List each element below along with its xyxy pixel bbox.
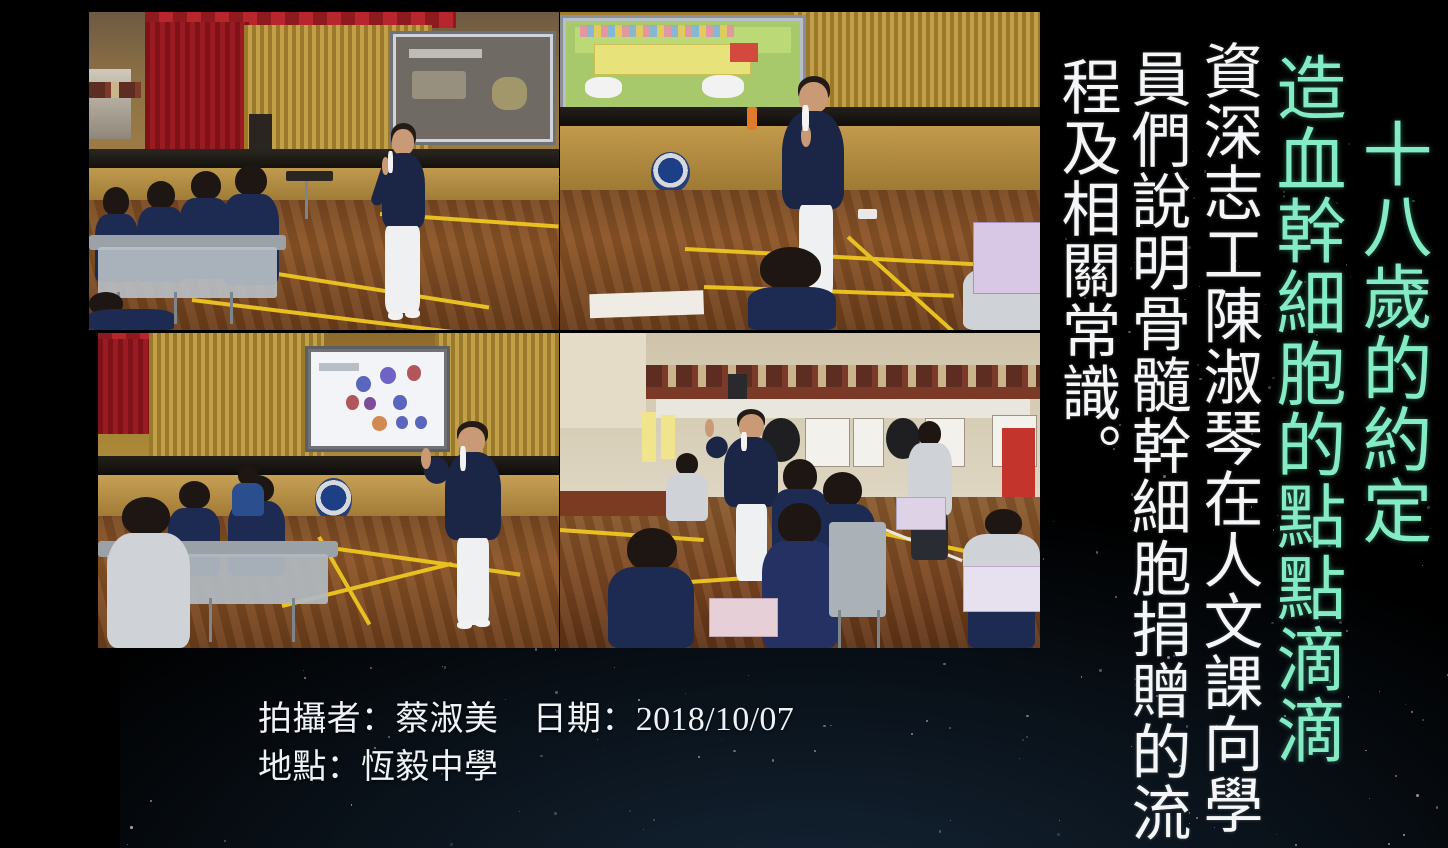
poem-column-5: 程及相關常識。 xyxy=(1055,56,1116,484)
poem-column-4: 員們說明骨髓幹細胞捐贈的流 xyxy=(1125,48,1186,844)
poem-column-2: 造血幹細胞的點點滴滴 xyxy=(1269,52,1340,766)
poem-column-3: 資深志工陳淑琴在人文課向學 xyxy=(1197,40,1258,836)
collage-photo-top-right xyxy=(560,12,1040,330)
caption-block: 拍攝者：蔡淑美 日期：2018/10/07 地點：恆毅中學 xyxy=(258,696,958,793)
photo-collage xyxy=(89,12,1040,648)
caption-line-location: 地點：恆毅中學 xyxy=(258,744,958,792)
collage-photo-bottom-left xyxy=(98,333,559,648)
collage-photo-bottom-right xyxy=(560,333,1040,648)
poster-canvas: 十八歲的約定 造血幹細胞的點點滴滴 資深志工陳淑琴在人文課向學 員們說明骨髓幹細… xyxy=(0,0,1448,848)
poem-column-1: 十八歲的約定 xyxy=(1355,118,1426,546)
vertical-poem: 十八歲的約定 造血幹細胞的點點滴滴 資深志工陳淑琴在人文課向學 員們說明骨髓幹細… xyxy=(1038,0,1448,848)
caption-line-photographer-date: 拍攝者：蔡淑美 日期：2018/10/07 xyxy=(258,696,958,744)
collage-photo-top-left xyxy=(89,12,559,330)
